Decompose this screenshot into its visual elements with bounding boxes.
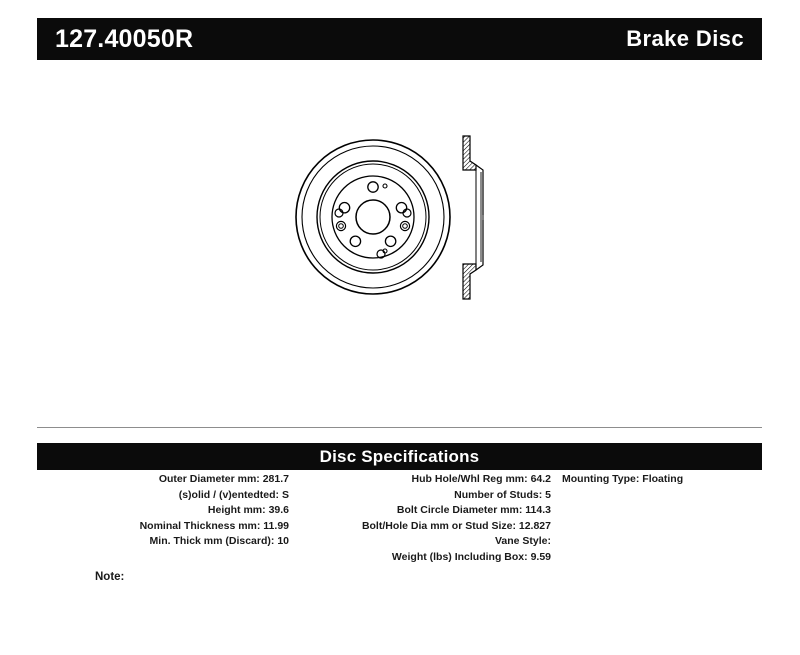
spec-header-title: Disc Specifications [320,448,480,465]
note-row: Note: [95,571,138,583]
spec-value: Floating [642,473,683,485]
spec-label: Nominal Thickness mm: [140,520,261,532]
spec-value: 281.7 [263,473,289,485]
spec-label: Outer Diameter mm: [159,473,260,485]
alignment-pin-hole [383,184,387,188]
spec-label: Weight (lbs) Including Box: [392,551,528,563]
spec-value: 10 [277,535,289,547]
page-title: Brake Disc [626,28,744,50]
brake-disc-cross-section-view [463,136,483,299]
spec-label: Number of Studs: [454,489,542,501]
section-hat-wall-upper [476,165,483,215]
section-upper-friction-ring [463,136,476,170]
spec-column-left: Outer Diameter mm: 281.7 (s)olid / (v)en… [37,472,289,550]
brake-disc-face-view [296,140,450,294]
spec-value: 64.2 [531,473,551,485]
section-hat-wall-lower [476,220,483,270]
lug-hole [368,182,378,192]
rotor-rim-inner-circle [302,146,444,288]
spec-label: Vane Style: [495,535,551,547]
locating-hole-inner [339,224,344,229]
center-hub-bore [356,200,390,234]
spec-row: Mounting Type: Floating [562,472,762,488]
brake-disc-drawing [295,98,525,318]
spec-label: Hub Hole/Whl Reg mm: [412,473,528,485]
part-number: 127.40050R [55,27,193,52]
spec-label: Height mm: [208,504,266,516]
spec-row: Weight (lbs) Including Box: 9.59 [299,550,551,566]
spec-value: 12.827 [519,520,551,532]
rotor-outer-edge-circle [296,140,450,294]
lug-hole [385,236,395,246]
spec-row: Nominal Thickness mm: 11.99 [37,519,289,535]
spec-label: Mounting Type: [562,473,639,485]
spec-column-middle: Hub Hole/Whl Reg mm: 64.2 Number of Stud… [299,472,551,565]
hat-outer-circle [320,164,426,270]
spec-label: (s)olid / (v)entedted: [179,489,279,501]
spec-header-bar: Disc Specifications [37,443,762,470]
locating-hole [403,209,411,217]
spec-row: Bolt/Hole Dia mm or Stud Size: 12.827 [299,519,551,535]
spec-row: Min. Thick mm (Discard): 10 [37,534,289,550]
spec-value: 114.3 [525,504,551,516]
lug-hole [350,236,360,246]
spec-divider-rule [37,427,762,428]
lug-hole [396,203,406,213]
spec-row: Number of Studs: 5 [299,488,551,504]
spec-value: 11.99 [263,520,289,532]
spec-body: Outer Diameter mm: 281.7 (s)olid / (v)en… [37,472,762,592]
spec-value: 39.6 [269,504,289,516]
spec-row: Vane Style: [299,534,551,550]
spec-column-right: Mounting Type: Floating [562,472,762,488]
lug-hole-group [339,182,406,247]
locating-hole-inner [403,224,408,229]
spec-value: 9.59 [531,551,551,563]
spec-row: Bolt Circle Diameter mm: 114.3 [299,503,551,519]
spec-value: 5 [545,489,551,501]
spec-row: Height mm: 39.6 [37,503,289,519]
header-bar: 127.40050R Brake Disc [37,18,762,60]
locating-hole [335,209,343,217]
spec-label: Min. Thick mm (Discard): [150,535,275,547]
section-lower-friction-ring [463,264,476,299]
spec-label: Bolt Circle Diameter mm: [397,504,522,516]
spec-label: Bolt/Hole Dia mm or Stud Size: [362,520,516,532]
product-drawing-area [0,70,800,415]
spec-value: S [282,489,289,501]
mounting-flange-circle [332,176,414,258]
spec-row: (s)olid / (v)entedted: S [37,488,289,504]
note-label: Note: [95,571,124,583]
lug-hole [339,203,349,213]
spec-row: Outer Diameter mm: 281.7 [37,472,289,488]
locating-hole [400,221,409,230]
locating-hole [336,221,345,230]
friction-surface-inner-circle [317,161,429,273]
spec-row: Hub Hole/Whl Reg mm: 64.2 [299,472,551,488]
